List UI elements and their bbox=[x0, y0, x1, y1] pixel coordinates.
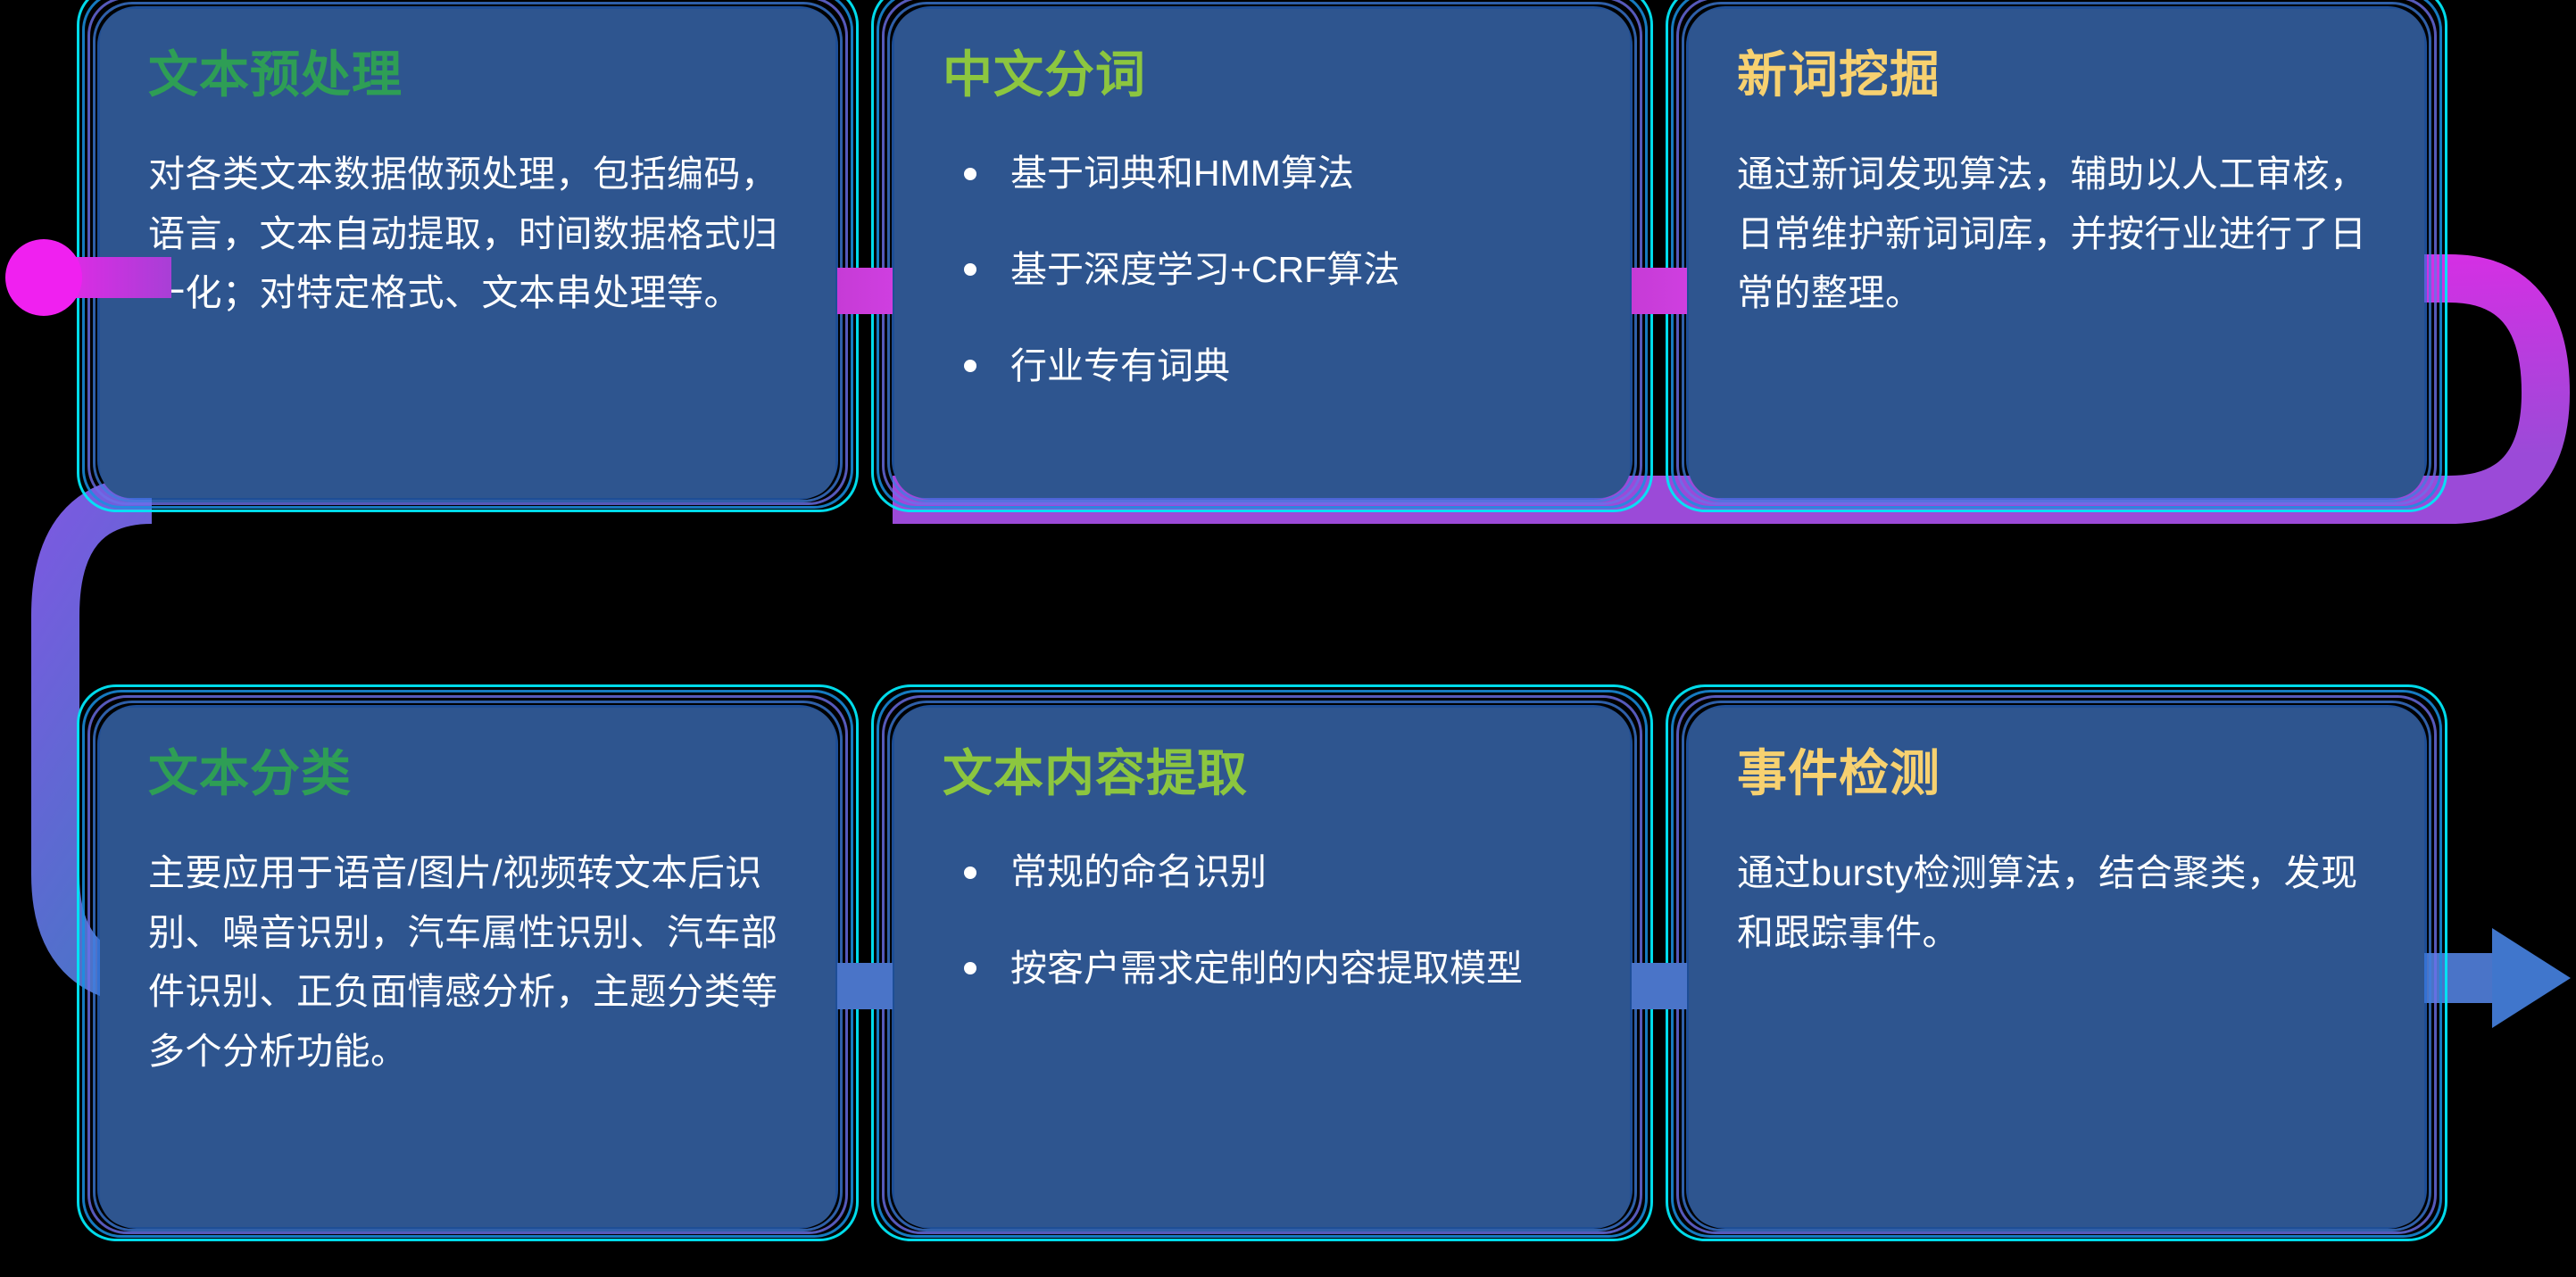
connector-chip bbox=[1632, 268, 1687, 314]
list-item: 行业专有词典 bbox=[943, 337, 1582, 396]
card-bullet-list: 基于词典和HMM算法 基于深度学习+CRF算法 行业专有词典 bbox=[943, 145, 1582, 395]
bullet-dot-icon bbox=[964, 263, 976, 276]
card-body-text: 通过bursty检测算法，结合聚类，发现和跟踪事件。 bbox=[1737, 843, 2376, 962]
bottom-row: 文本分类 主要应用于语音/图片/视频转文本后识别、噪音识别，汽车属性识别、汽车部… bbox=[100, 708, 2424, 1227]
list-item: 按客户需求定制的内容提取模型 bbox=[943, 940, 1582, 999]
list-item: 基于词典和HMM算法 bbox=[943, 145, 1582, 203]
card-title: 新词挖掘 bbox=[1737, 46, 2376, 104]
list-item-label: 按客户需求定制的内容提取模型 bbox=[1010, 948, 1523, 989]
connector-chip bbox=[1632, 963, 1687, 1009]
card-body-text: 通过新词发现算法，辅助以人工审核，日常维护新词词库，并按行业进行了日常的整理。 bbox=[1737, 145, 2376, 322]
list-item-label: 基于深度学习+CRF算法 bbox=[1010, 249, 1400, 290]
connector-bottom-2-3 bbox=[1630, 708, 1689, 1227]
arrow-right-icon bbox=[2492, 928, 2571, 1028]
card-text-classification[interactable]: 文本分类 主要应用于语音/图片/视频转文本后识别、噪音识别，汽车属性识别、汽车部… bbox=[100, 708, 835, 1227]
connector-chip bbox=[837, 268, 893, 314]
card-title: 中文分词 bbox=[943, 46, 1582, 104]
list-item-label: 基于词典和HMM算法 bbox=[1010, 153, 1354, 194]
card-body-text: 主要应用于语音/图片/视频转文本后识别、噪音识别，汽车属性识别、汽车部件识别、正… bbox=[148, 843, 787, 1081]
bullet-dot-icon bbox=[964, 168, 976, 180]
bullet-dot-icon bbox=[964, 867, 976, 879]
card-chinese-word-segmentation[interactable]: 中文分词 基于词典和HMM算法 基于深度学习+CRF算法 行业专有词典 bbox=[894, 9, 1630, 498]
connector-top-2-3 bbox=[1630, 9, 1689, 498]
bullet-dot-icon bbox=[964, 360, 976, 372]
connector-top-1-2 bbox=[835, 9, 894, 498]
bullet-dot-icon bbox=[964, 962, 976, 974]
card-event-detection[interactable]: 事件检测 通过bursty检测算法，结合聚类，发现和跟踪事件。 bbox=[1689, 708, 2424, 1227]
top-row: 文本预处理 对各类文本数据做预处理，包括编码，语言，文本自动提取，时间数据格式归… bbox=[100, 9, 2424, 498]
card-title: 事件检测 bbox=[1737, 745, 2376, 802]
card-new-word-discovery[interactable]: 新词挖掘 通过新词发现算法，辅助以人工审核，日常维护新词词库，并按行业进行了日常… bbox=[1689, 9, 2424, 498]
card-body-text: 对各类文本数据做预处理，包括编码，语言，文本自动提取，时间数据格式归一化；对特定… bbox=[148, 145, 787, 322]
diagram-canvas: 文本预处理 对各类文本数据做预处理，包括编码，语言，文本自动提取，时间数据格式归… bbox=[0, 0, 2576, 1277]
card-text-preprocessing[interactable]: 文本预处理 对各类文本数据做预处理，包括编码，语言，文本自动提取，时间数据格式归… bbox=[100, 9, 835, 498]
card-text-content-extraction[interactable]: 文本内容提取 常规的命名识别 按客户需求定制的内容提取模型 bbox=[894, 708, 1630, 1227]
card-title: 文本预处理 bbox=[148, 46, 787, 104]
card-title: 文本内容提取 bbox=[943, 745, 1582, 802]
card-title: 文本分类 bbox=[148, 745, 787, 802]
list-item-label: 常规的命名识别 bbox=[1010, 851, 1267, 892]
list-item: 常规的命名识别 bbox=[943, 843, 1582, 902]
list-item-label: 行业专有词典 bbox=[1010, 345, 1230, 386]
connector-chip bbox=[837, 963, 893, 1009]
flow-start-dot-icon bbox=[5, 239, 82, 316]
list-item: 基于深度学习+CRF算法 bbox=[943, 241, 1582, 300]
card-bullet-list: 常规的命名识别 按客户需求定制的内容提取模型 bbox=[943, 843, 1582, 998]
connector-bottom-1-2 bbox=[835, 708, 894, 1227]
